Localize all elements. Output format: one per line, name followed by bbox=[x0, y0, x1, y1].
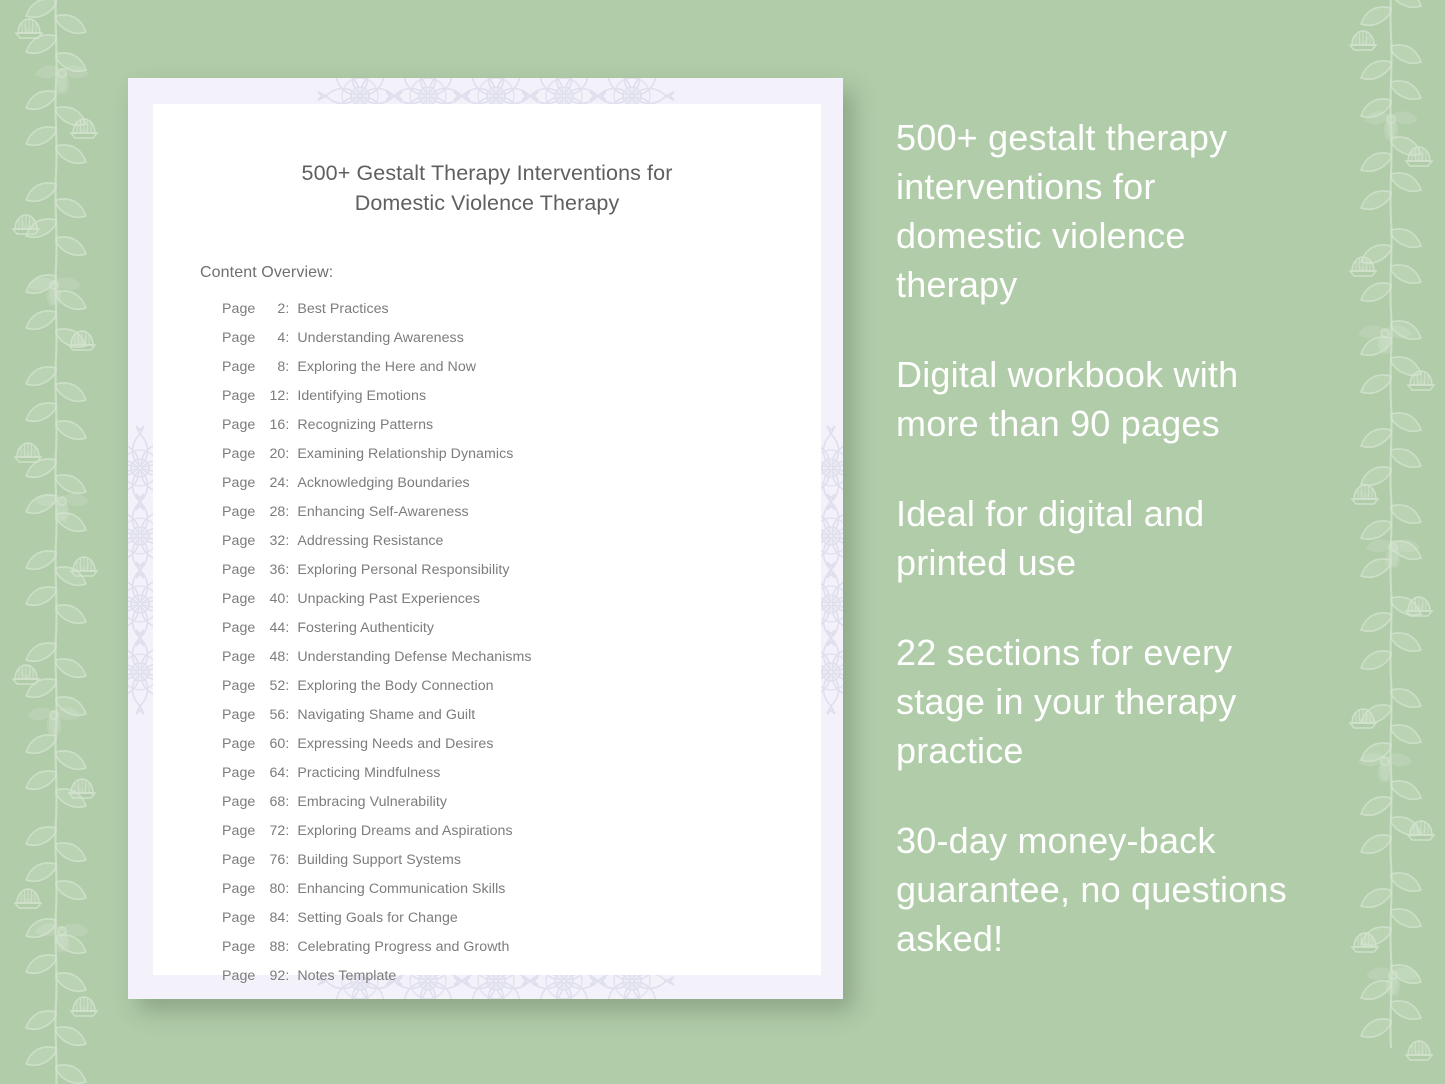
toc-page-number: 40 bbox=[259, 591, 285, 607]
toc-section-label: Unpacking Past Experiences bbox=[297, 591, 480, 607]
toc-page-number: 8 bbox=[259, 359, 285, 375]
page-title: 500+ Gestalt Therapy Interventions for D… bbox=[153, 158, 821, 218]
toc-page-word: Page bbox=[222, 823, 259, 839]
toc-colon: : bbox=[285, 475, 289, 491]
toc-page-word: Page bbox=[222, 417, 259, 433]
toc-item: Page 44:Fostering Authenticity bbox=[222, 620, 821, 649]
toc-colon: : bbox=[285, 736, 289, 752]
toc-page-word: Page bbox=[222, 330, 259, 346]
toc-item: Page 40:Unpacking Past Experiences bbox=[222, 591, 821, 620]
toc-page-number: 68 bbox=[259, 794, 285, 810]
toc-section-label: Setting Goals for Change bbox=[297, 910, 458, 926]
promo-line: 22 sections for every stage in your ther… bbox=[896, 628, 1308, 775]
toc-section-label: Examining Relationship Dynamics bbox=[297, 446, 513, 462]
toc-page-word: Page bbox=[222, 533, 259, 549]
toc-colon: : bbox=[285, 533, 289, 549]
toc-item: Page 4:Understanding Awareness bbox=[222, 330, 821, 359]
toc-section-label: Enhancing Self-Awareness bbox=[297, 504, 468, 520]
toc-colon: : bbox=[285, 852, 289, 868]
toc-colon: : bbox=[285, 301, 289, 317]
toc-page-number: 84 bbox=[259, 910, 285, 926]
toc-page-word: Page bbox=[222, 388, 259, 404]
content-overview-label: Content Overview: bbox=[153, 264, 821, 282]
toc-page-word: Page bbox=[222, 475, 259, 491]
toc-colon: : bbox=[285, 388, 289, 404]
toc-colon: : bbox=[285, 562, 289, 578]
toc-colon: : bbox=[285, 823, 289, 839]
toc-section-label: Exploring the Body Connection bbox=[297, 678, 493, 694]
toc-item: Page 84:Setting Goals for Change bbox=[222, 910, 821, 939]
page-title-line-1: 500+ Gestalt Therapy Interventions for bbox=[302, 161, 673, 185]
promo-line: 30-day money-back guarantee, no question… bbox=[896, 816, 1308, 963]
toc-page-word: Page bbox=[222, 852, 259, 868]
toc-section-label: Recognizing Patterns bbox=[297, 417, 433, 433]
floral-vine-border-right bbox=[1301, 0, 1445, 1084]
toc-page-number: 20 bbox=[259, 446, 285, 462]
toc-colon: : bbox=[285, 968, 289, 984]
workbook-page: 500+ Gestalt Therapy Interventions for D… bbox=[153, 104, 821, 975]
toc-colon: : bbox=[285, 417, 289, 433]
toc-page-number: 60 bbox=[259, 736, 285, 752]
toc-page-word: Page bbox=[222, 678, 259, 694]
toc-page-word: Page bbox=[222, 562, 259, 578]
toc-colon: : bbox=[285, 881, 289, 897]
toc-page-word: Page bbox=[222, 881, 259, 897]
promo-feature-list: 500+ gestalt therapy interventions for d… bbox=[896, 113, 1308, 963]
toc-item: Page 52:Exploring the Body Connection bbox=[222, 678, 821, 707]
toc-section-label: Understanding Defense Mechanisms bbox=[297, 649, 531, 665]
toc-page-number: 56 bbox=[259, 707, 285, 723]
toc-section-label: Fostering Authenticity bbox=[297, 620, 434, 636]
toc-page-number: 48 bbox=[259, 649, 285, 665]
toc-page-number: 88 bbox=[259, 939, 285, 955]
toc-page-word: Page bbox=[222, 591, 259, 607]
toc-item: Page 36:Exploring Personal Responsibilit… bbox=[222, 562, 821, 591]
toc-section-label: Exploring Dreams and Aspirations bbox=[297, 823, 512, 839]
toc-page-number: 12 bbox=[259, 388, 285, 404]
toc-item: Page 12:Identifying Emotions bbox=[222, 388, 821, 417]
toc-page-number: 80 bbox=[259, 881, 285, 897]
toc-page-word: Page bbox=[222, 736, 259, 752]
promo-line: Digital workbook with more than 90 pages bbox=[896, 350, 1308, 448]
toc-item: Page 48:Understanding Defense Mechanisms bbox=[222, 649, 821, 678]
toc-page-number: 72 bbox=[259, 823, 285, 839]
toc-page-number: 76 bbox=[259, 852, 285, 868]
toc-item: Page 72:Exploring Dreams and Aspirations bbox=[222, 823, 821, 852]
toc-section-label: Celebrating Progress and Growth bbox=[297, 939, 509, 955]
toc-page-word: Page bbox=[222, 446, 259, 462]
toc-section-label: Identifying Emotions bbox=[297, 388, 426, 404]
toc-colon: : bbox=[285, 678, 289, 694]
toc-page-number: 4 bbox=[259, 330, 285, 346]
toc-item: Page 88:Celebrating Progress and Growth bbox=[222, 939, 821, 968]
toc-colon: : bbox=[285, 620, 289, 636]
page-title-line-2: Domestic Violence Therapy bbox=[355, 191, 620, 215]
floral-vine-icon-left bbox=[0, 0, 146, 1084]
toc-page-word: Page bbox=[222, 301, 259, 317]
toc-item: Page 32:Addressing Resistance bbox=[222, 533, 821, 562]
toc-page-word: Page bbox=[222, 649, 259, 665]
toc-page-word: Page bbox=[222, 504, 259, 520]
toc-page-word: Page bbox=[222, 968, 259, 984]
toc-item: Page 28:Enhancing Self-Awareness bbox=[222, 504, 821, 533]
toc-item: Page 60:Expressing Needs and Desires bbox=[222, 736, 821, 765]
toc-page-number: 16 bbox=[259, 417, 285, 433]
toc-colon: : bbox=[285, 707, 289, 723]
toc-section-label: Building Support Systems bbox=[297, 852, 461, 868]
toc-colon: : bbox=[285, 330, 289, 346]
toc-item: Page 80:Enhancing Communication Skills bbox=[222, 881, 821, 910]
table-of-contents: Page 2:Best PracticesPage 4:Understandin… bbox=[153, 301, 821, 997]
toc-page-word: Page bbox=[222, 620, 259, 636]
toc-page-word: Page bbox=[222, 707, 259, 723]
toc-section-label: Acknowledging Boundaries bbox=[297, 475, 469, 491]
toc-colon: : bbox=[285, 591, 289, 607]
product-preview-card: 500+ Gestalt Therapy Interventions for D… bbox=[128, 78, 843, 999]
toc-section-label: Understanding Awareness bbox=[297, 330, 464, 346]
toc-section-label: Best Practices bbox=[297, 301, 388, 317]
toc-section-label: Exploring the Here and Now bbox=[297, 359, 476, 375]
toc-page-number: 64 bbox=[259, 765, 285, 781]
toc-section-label: Practicing Mindfulness bbox=[297, 765, 440, 781]
promo-line: 500+ gestalt therapy interventions for d… bbox=[896, 113, 1308, 309]
toc-item: Page 68:Embracing Vulnerability bbox=[222, 794, 821, 823]
toc-page-number: 2 bbox=[259, 301, 285, 317]
toc-item: Page 56:Navigating Shame and Guilt bbox=[222, 707, 821, 736]
toc-page-number: 52 bbox=[259, 678, 285, 694]
toc-colon: : bbox=[285, 359, 289, 375]
promo-line: Ideal for digital and printed use bbox=[896, 489, 1308, 587]
toc-section-label: Embracing Vulnerability bbox=[297, 794, 447, 810]
toc-item: Page 92:Notes Template bbox=[222, 968, 821, 997]
toc-section-label: Navigating Shame and Guilt bbox=[297, 707, 475, 723]
toc-colon: : bbox=[285, 765, 289, 781]
floral-vine-border-left bbox=[0, 0, 146, 1084]
toc-colon: : bbox=[285, 446, 289, 462]
toc-item: Page 24:Acknowledging Boundaries bbox=[222, 475, 821, 504]
toc-section-label: Addressing Resistance bbox=[297, 533, 443, 549]
toc-colon: : bbox=[285, 649, 289, 665]
toc-item: Page 2:Best Practices bbox=[222, 301, 821, 330]
toc-colon: : bbox=[285, 939, 289, 955]
toc-page-word: Page bbox=[222, 765, 259, 781]
toc-page-word: Page bbox=[222, 910, 259, 926]
toc-item: Page 64:Practicing Mindfulness bbox=[222, 765, 821, 794]
toc-section-label: Expressing Needs and Desires bbox=[297, 736, 493, 752]
toc-page-number: 92 bbox=[259, 968, 285, 984]
toc-page-number: 32 bbox=[259, 533, 285, 549]
toc-item: Page 8:Exploring the Here and Now bbox=[222, 359, 821, 388]
toc-colon: : bbox=[285, 504, 289, 520]
toc-section-label: Exploring Personal Responsibility bbox=[297, 562, 509, 578]
toc-colon: : bbox=[285, 794, 289, 810]
toc-page-number: 36 bbox=[259, 562, 285, 578]
toc-colon: : bbox=[285, 910, 289, 926]
toc-page-word: Page bbox=[222, 794, 259, 810]
toc-item: Page 20:Examining Relationship Dynamics bbox=[222, 446, 821, 475]
toc-section-label: Enhancing Communication Skills bbox=[297, 881, 505, 897]
toc-page-number: 24 bbox=[259, 475, 285, 491]
toc-page-word: Page bbox=[222, 939, 259, 955]
toc-item: Page 16:Recognizing Patterns bbox=[222, 417, 821, 446]
toc-item: Page 76:Building Support Systems bbox=[222, 852, 821, 881]
toc-page-word: Page bbox=[222, 359, 259, 375]
toc-section-label: Notes Template bbox=[297, 968, 396, 984]
toc-page-number: 44 bbox=[259, 620, 285, 636]
floral-vine-icon-right bbox=[1301, 0, 1445, 1084]
toc-page-number: 28 bbox=[259, 504, 285, 520]
